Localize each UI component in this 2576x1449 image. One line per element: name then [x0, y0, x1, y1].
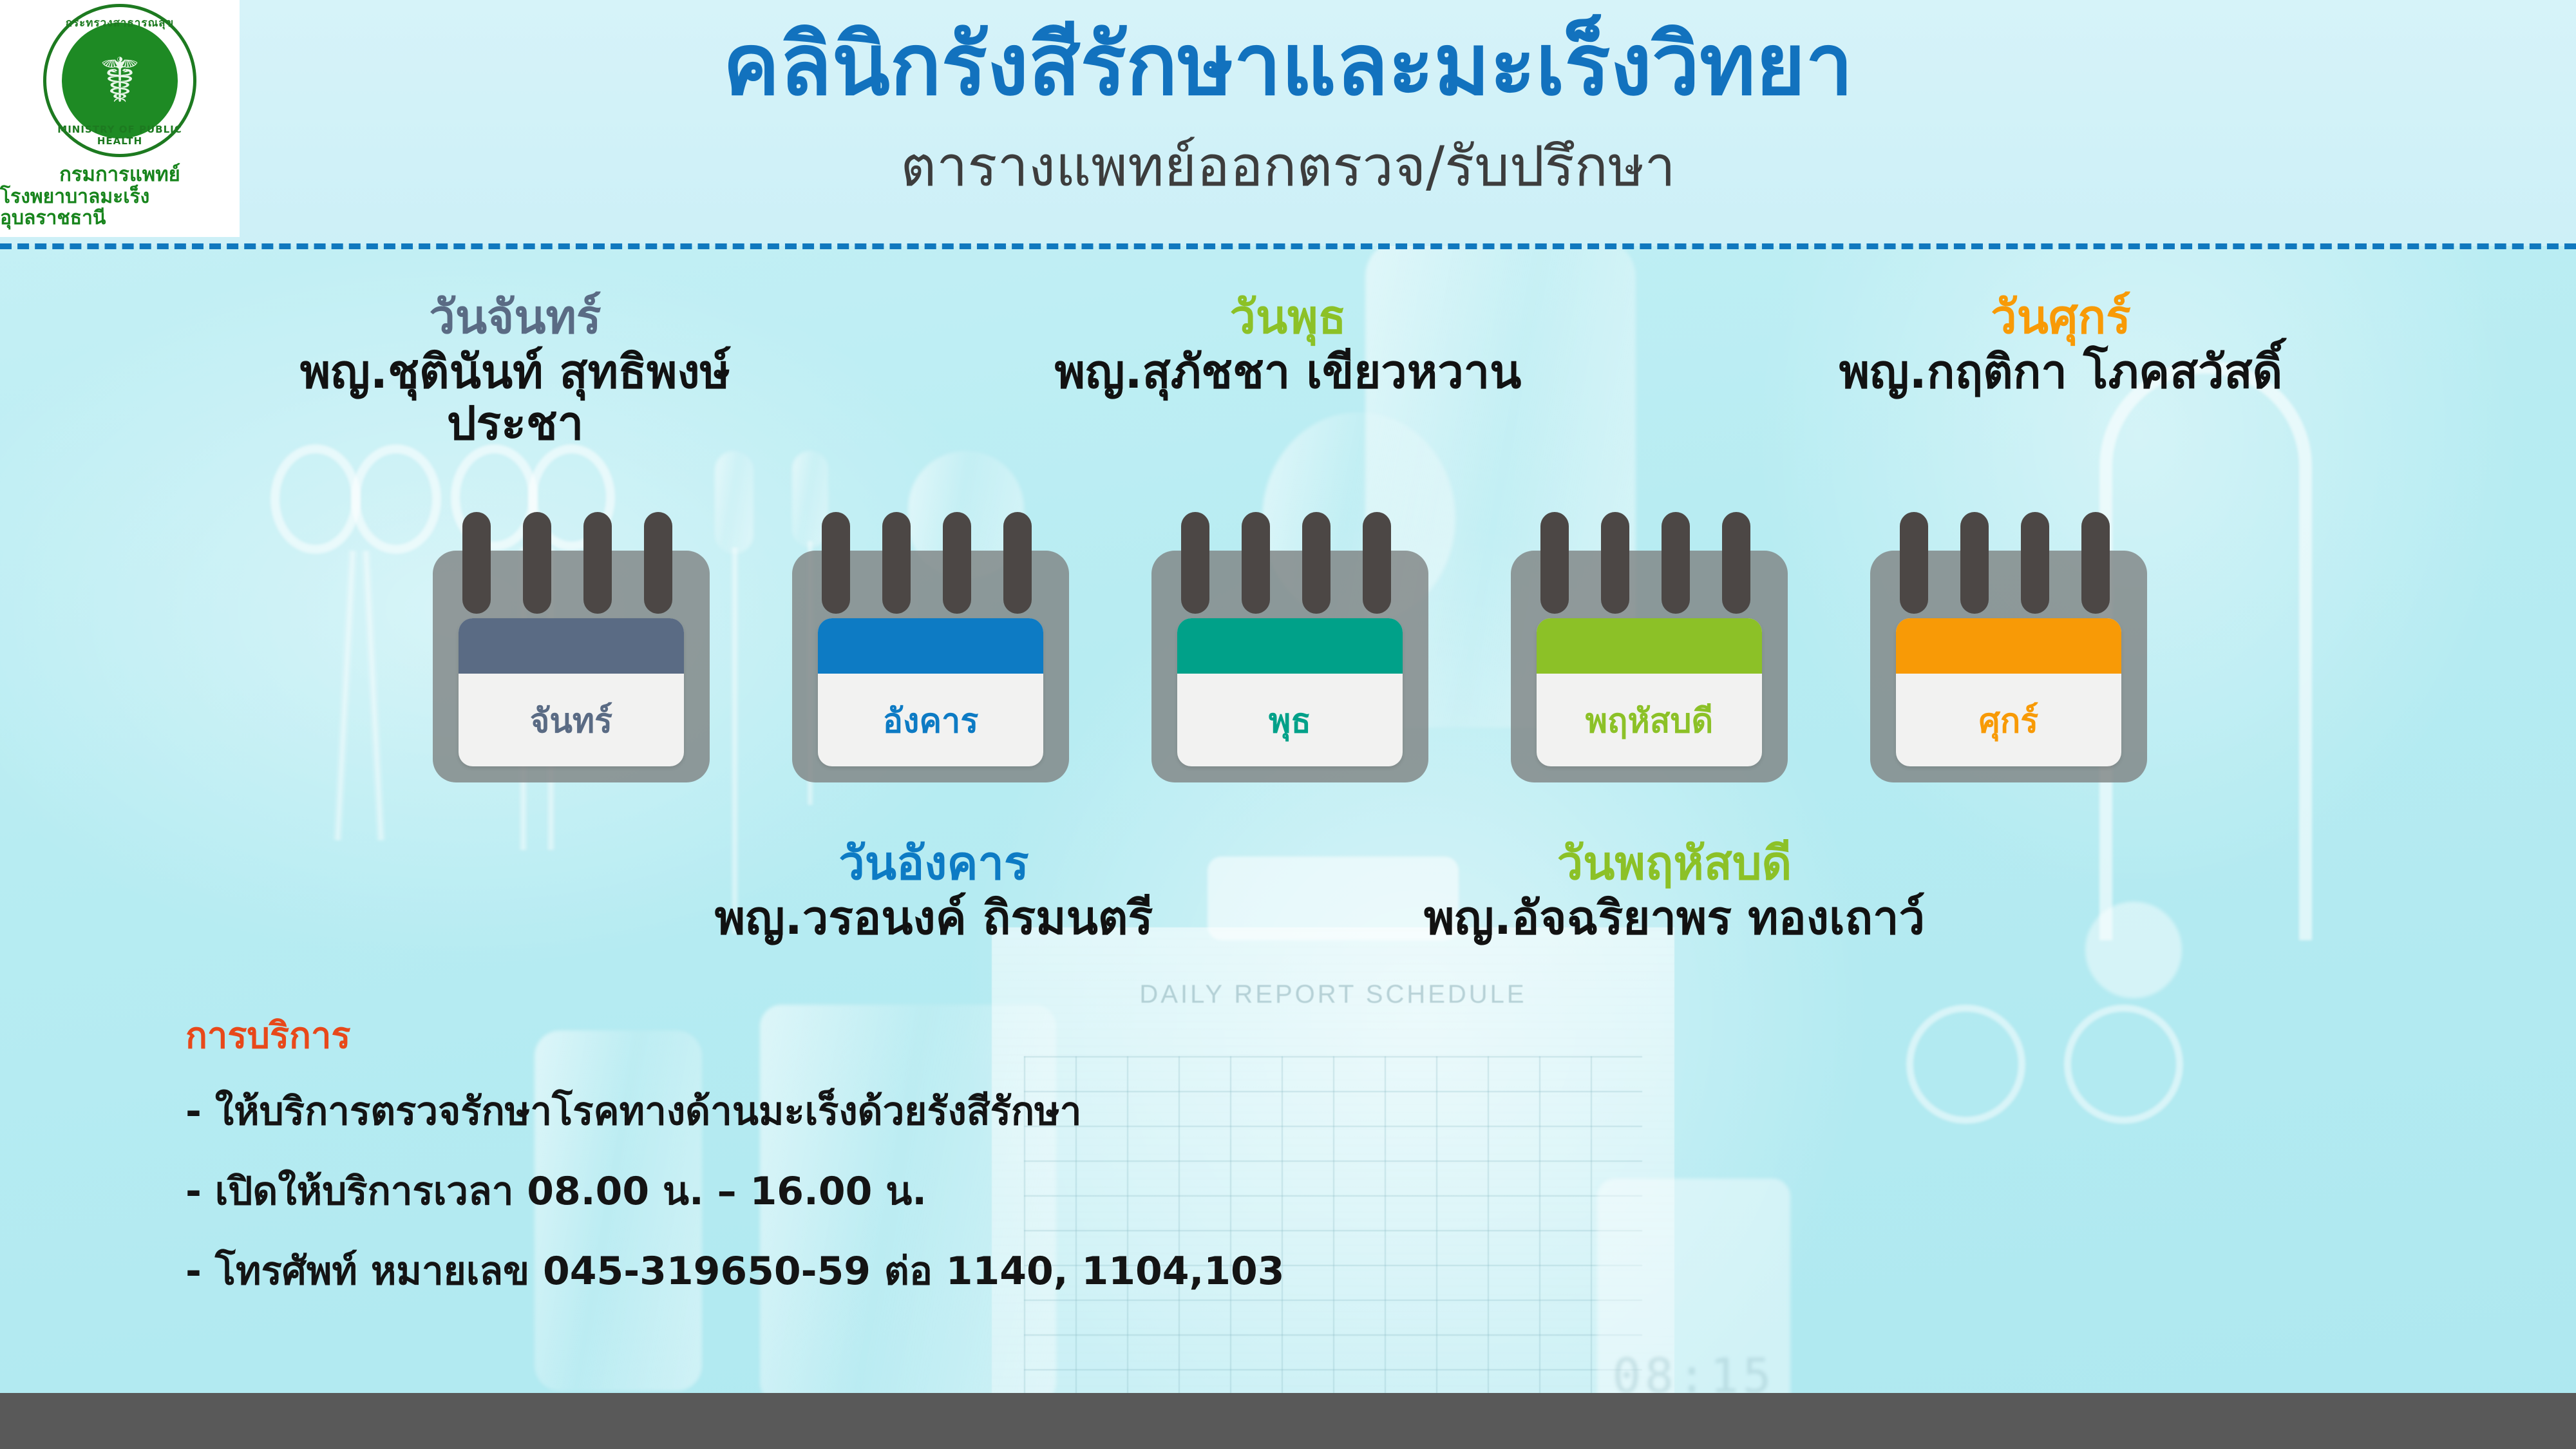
calendar-ring-icon — [1242, 512, 1270, 614]
calendar-ring-icon — [1601, 512, 1629, 614]
day-label-thursday: วันพฤหัสบดี พญ.อัจฉริยาพร ทองเถาว์ — [1404, 837, 1945, 943]
calendar-ring-icon — [1662, 512, 1690, 614]
day-label-friday: วันศุกร์ พญ.กฤติกา โภคสวัสดิ์ — [1790, 291, 2331, 397]
calendar-ring-icon — [943, 512, 971, 614]
calendar-ring-icon — [644, 512, 672, 614]
calendar-ring-icon — [1540, 512, 1569, 614]
page-title: คลินิกรังสีรักษาและมะเร็งวิทยา — [0, 19, 2576, 111]
calendar-ring-icon — [583, 512, 612, 614]
service-item-treatment: - ให้บริการตรวจรักษาโรคทางด้านมะเร็งด้วย… — [185, 1090, 1285, 1133]
calendar-rings-tuesday — [792, 512, 1069, 615]
calendar-ring-icon — [1181, 512, 1209, 614]
header-divider — [0, 243, 2576, 249]
calendar-friday[interactable]: ศุกร์ — [1870, 512, 2147, 782]
day-label-tuesday: วันอังคาร พญ.วรอนงค์ ถิรมนตรี — [663, 837, 1204, 943]
day-name-tuesday: วันอังคาร — [663, 837, 1204, 889]
page-header: กระทรวงสาธารณสุข ☤ MINISTRY OF PUBLIC HE… — [0, 0, 2576, 246]
calendar-strip-wednesday — [1177, 618, 1403, 674]
calendar-ring-icon — [822, 512, 850, 614]
calendar-ring-icon — [1960, 512, 1989, 614]
calendar-ring-icon — [882, 512, 911, 614]
calendar-strip-tuesday — [818, 618, 1043, 674]
calendar-page-friday: ศุกร์ — [1896, 618, 2121, 766]
calendar-ring-icon — [523, 512, 551, 614]
calendar-ring-icon — [1722, 512, 1750, 614]
day-label-wednesday: วันพุธ พญ.สุภัชชา เขียวหวาน — [1018, 291, 1558, 397]
service-heading: การบริการ — [185, 1016, 1285, 1056]
calendar-strip-monday — [459, 618, 684, 674]
calendar-thursday[interactable]: พฤหัสบดี — [1511, 512, 1788, 782]
doctor-name-tuesday: พญ.วรอนงค์ ถิรมนตรี — [663, 892, 1204, 944]
doctor-name-thursday: พญ.อัจฉริยาพร ทองเถาว์ — [1404, 892, 1945, 944]
calendar-ring-icon — [1900, 512, 1928, 614]
day-name-friday: วันศุกร์ — [1790, 291, 2331, 343]
service-item-phone: - โทรศัพท์ หมายเลข 045-319650-59 ต่อ 114… — [185, 1249, 1285, 1293]
service-item-hours: - เปิดให้บริการเวลา 08.00 น. – 16.00 น. — [185, 1170, 1285, 1213]
calendar-ring-icon — [1003, 512, 1032, 614]
calendar-rings-monday — [433, 512, 710, 615]
stethoscope-bell — [2085, 902, 2182, 998]
calendar-strip-friday — [1896, 618, 2121, 674]
service-info-block: การบริการ - ให้บริการตรวจรักษาโรคทางด้าน… — [185, 1016, 1285, 1330]
calendar-strip-thursday — [1537, 618, 1762, 674]
calendar-monday[interactable]: จันทร์ — [433, 512, 710, 782]
calendar-page-thursday: พฤหัสบดี — [1537, 618, 1762, 766]
page-subtitle: ตารางแพทย์ออกตรวจ/รับปรึกษา — [0, 137, 2576, 198]
calendar-label-tuesday: อังคาร — [818, 674, 1043, 766]
calendar-ring-icon — [1302, 512, 1331, 614]
eyeglasses-icon — [1906, 1005, 2183, 1127]
calendar-label-friday: ศุกร์ — [1896, 674, 2121, 766]
doctor-name-monday: พญ.ชุตินันท์ สุทธิพงษ์ประชา — [245, 346, 786, 450]
calendar-page-wednesday: พุธ — [1177, 618, 1403, 766]
calendar-rings-friday — [1870, 512, 2147, 615]
calendar-ring-icon — [2081, 512, 2110, 614]
calendar-ring-icon — [1363, 512, 1391, 614]
calendar-label-monday: จันทร์ — [459, 674, 684, 766]
clipboard-title: DAILY REPORT SCHEDULE — [992, 980, 1674, 1009]
calendar-label-thursday: พฤหัสบดี — [1537, 674, 1762, 766]
doctor-name-friday: พญ.กฤติกา โภคสวัสดิ์ — [1790, 346, 2331, 398]
calendar-tuesday[interactable]: อังคาร — [792, 512, 1069, 782]
calendar-rings-thursday — [1511, 512, 1788, 615]
day-name-wednesday: วันพุธ — [1018, 291, 1558, 343]
day-name-thursday: วันพฤหัสบดี — [1404, 837, 1945, 889]
calendar-page-tuesday: อังคาร — [818, 618, 1043, 766]
calendar-wednesday[interactable]: พุธ — [1151, 512, 1428, 782]
service-list: - ให้บริการตรวจรักษาโรคทางด้านมะเร็งด้วย… — [185, 1090, 1285, 1294]
day-label-monday: วันจันทร์ พญ.ชุตินันท์ สุทธิพงษ์ประชา — [245, 291, 786, 450]
calendar-ring-icon — [462, 512, 491, 614]
calendar-label-wednesday: พุธ — [1177, 674, 1403, 766]
eyeglasses-lens-right — [2064, 1005, 2183, 1124]
day-name-monday: วันจันทร์ — [245, 291, 786, 343]
calendar-rings-wednesday — [1151, 512, 1428, 615]
calendar-page-monday: จันทร์ — [459, 618, 684, 766]
calendar-ring-icon — [2021, 512, 2049, 614]
footer-bar — [0, 1393, 2576, 1449]
eyeglasses-lens-left — [1906, 1005, 2025, 1124]
doctor-name-wednesday: พญ.สุภัชชา เขียวหวาน — [1018, 346, 1558, 398]
